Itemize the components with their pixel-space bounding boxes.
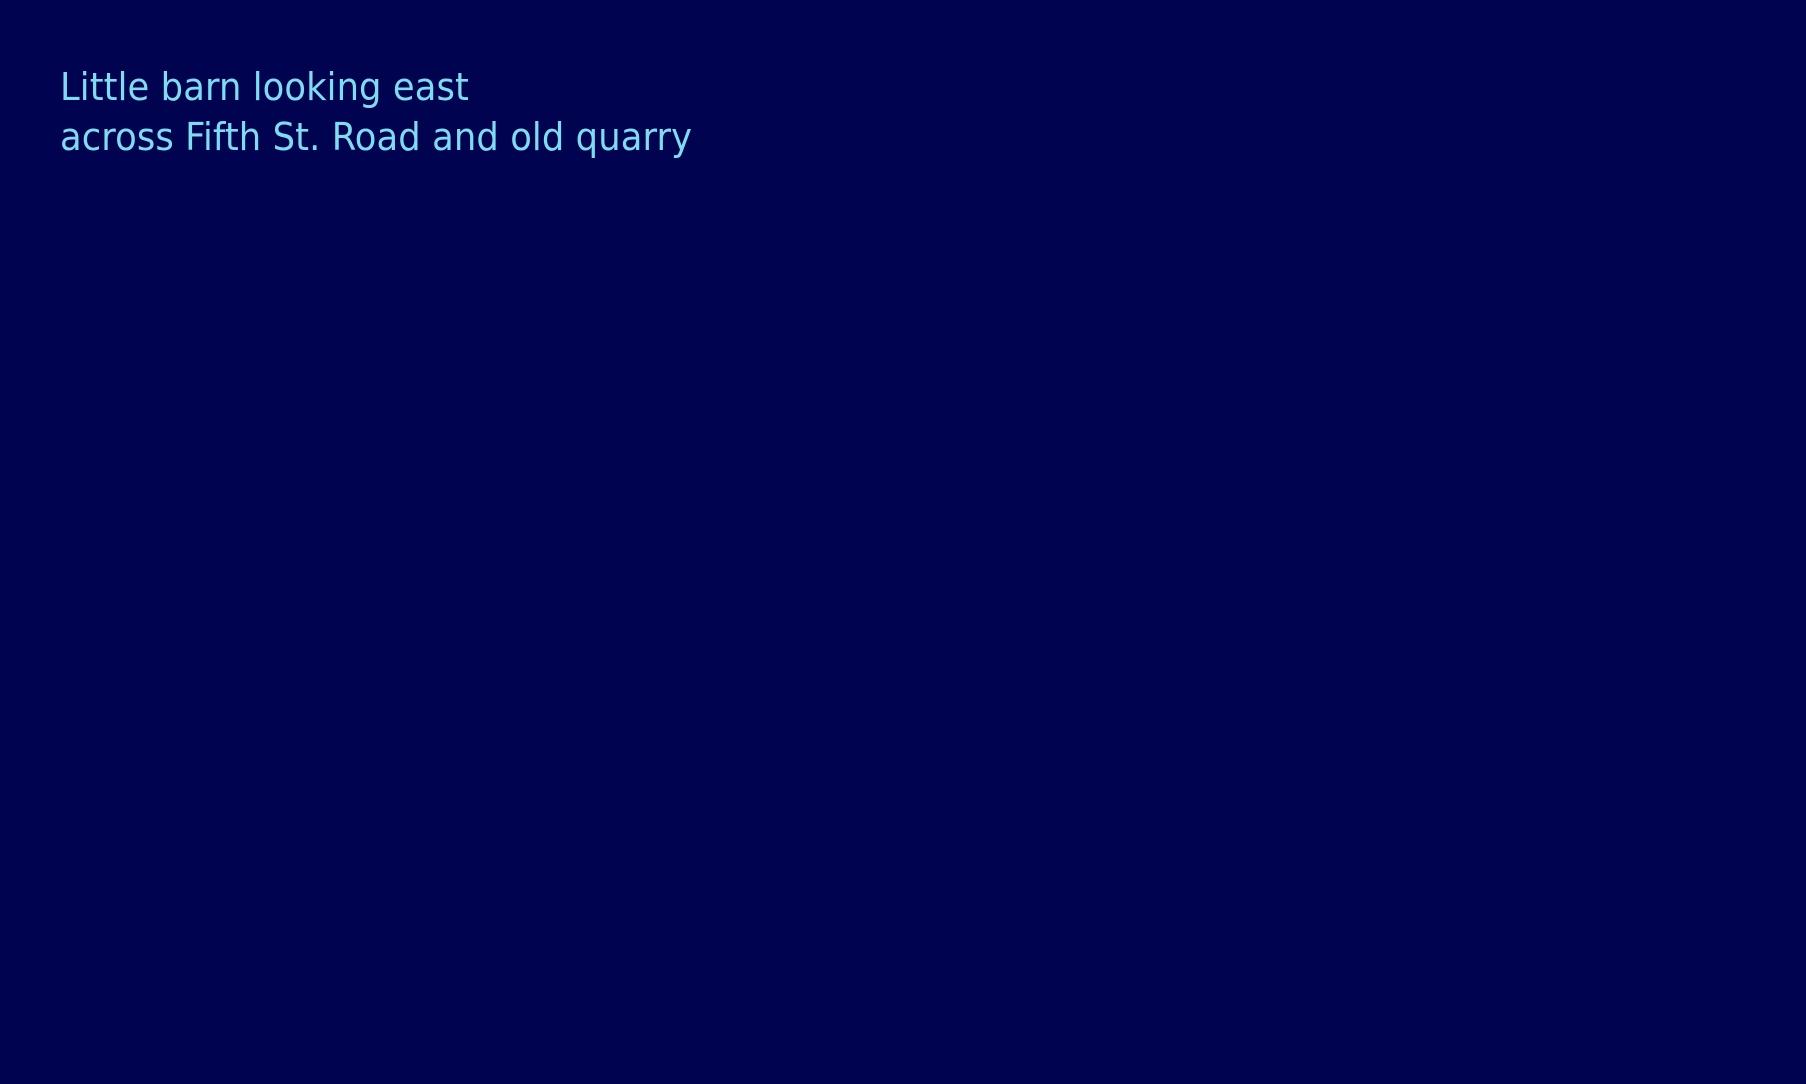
caption-line-2: across Fifth St. Road and old quarry	[60, 112, 990, 162]
slide-canvas: Little barn looking east across Fifth St…	[0, 0, 1806, 1084]
caption-line-1: Little barn looking east	[60, 62, 990, 112]
caption-text-block: Little barn looking east across Fifth St…	[60, 62, 1060, 162]
